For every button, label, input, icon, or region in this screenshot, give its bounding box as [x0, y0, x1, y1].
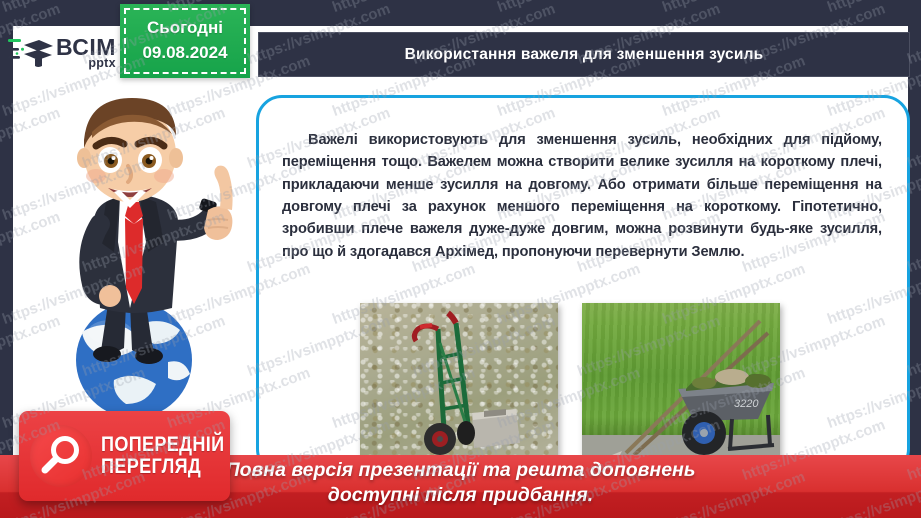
watermark-text: https://vsimpptx.com — [825, 0, 921, 16]
preview-badge-line1: ПОПЕРЕДНІЙ — [101, 434, 224, 456]
wheelbarrow-model-label: 3220 — [734, 398, 759, 410]
preview-badge[interactable]: ПОПЕРЕДНІЙ ПЕРЕГЛЯД — [19, 411, 230, 501]
presentation-slide: ВСІМ pptx Сьогодні 09.08.2024 Використан… — [0, 0, 921, 518]
footer-banner-line2: доступні після придбання. — [226, 483, 696, 507]
footer-banner-line1: Повна версія презентації та решта доповн… — [226, 458, 696, 482]
date-badge-label: Сьогодні — [147, 16, 223, 41]
slide-title-bar: Використання важеля для зменшення зусиль — [258, 32, 910, 77]
graduation-cap-icon — [8, 35, 54, 71]
page-title: Використання важеля для зменшення зусиль — [405, 46, 764, 64]
wheelbarrow-photo: 3220 — [582, 303, 780, 461]
watermark-text: https://vsimpptx.com — [660, 0, 808, 16]
wheelbarrow-illustration: 3220 — [582, 303, 780, 461]
watermark-text: https://vsimpptx.com — [330, 0, 478, 16]
today-date-badge: Сьогодні 09.08.2024 — [120, 4, 250, 78]
watermark-text: https://vsimpptx.com — [495, 0, 643, 16]
photo-row: 3220 — [360, 303, 780, 461]
hand-truck-photo — [360, 303, 558, 461]
hand-truck-illustration — [360, 303, 558, 461]
businessman-thumbs-up-illustration — [22, 92, 252, 422]
date-badge-value: 09.08.2024 — [142, 41, 227, 66]
preview-badge-line2: ПЕРЕГЛЯД — [101, 456, 224, 478]
magnifier-icon — [30, 425, 92, 487]
brand-logo[interactable]: ВСІМ pptx — [8, 28, 128, 78]
body-paragraph: Важелі використовують для зменшення зуси… — [282, 129, 882, 264]
